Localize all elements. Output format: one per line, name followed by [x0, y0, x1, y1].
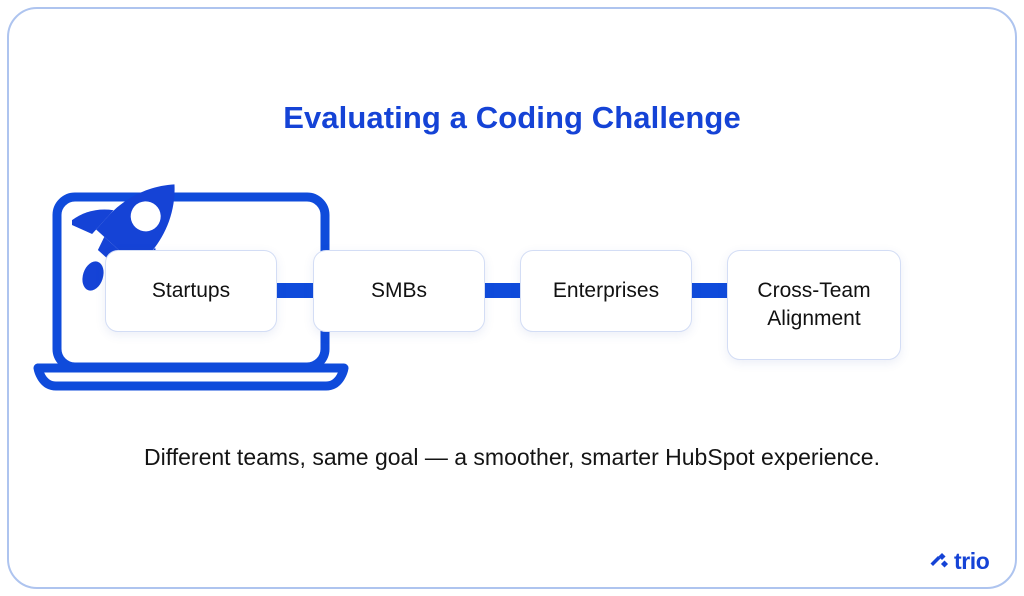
connector-startups-smbs — [272, 283, 318, 298]
connector-smbs-enterprises — [480, 283, 525, 298]
chain-card-label-line1: Cross-Team — [757, 279, 870, 302]
chain-card-label-line2: Alignment — [767, 307, 860, 330]
chain-card-label: Enterprises — [553, 277, 659, 305]
chain-card-label: SMBs — [371, 277, 427, 305]
page-title: Evaluating a Coding Challenge — [0, 100, 1024, 136]
connector-enterprises-crossteam — [687, 283, 732, 298]
chain-card-label: Cross-Team Alignment — [757, 277, 870, 332]
chain-card-startups[interactable]: Startups — [105, 250, 277, 332]
trio-logo: trio — [928, 547, 998, 575]
chain-card-cross-team-alignment[interactable]: Cross-Team Alignment — [727, 250, 901, 360]
chain-card-enterprises[interactable]: Enterprises — [520, 250, 692, 332]
chain-card-label: Startups — [152, 277, 230, 305]
caption-text: Different teams, same goal — a smoother,… — [0, 444, 1024, 471]
infographic-canvas: Evaluating a Coding Challenge Startups — [0, 0, 1024, 596]
chain-card-smbs[interactable]: SMBs — [313, 250, 485, 332]
trio-mark-icon — [928, 550, 950, 572]
trio-logo-text: trio — [954, 550, 989, 573]
